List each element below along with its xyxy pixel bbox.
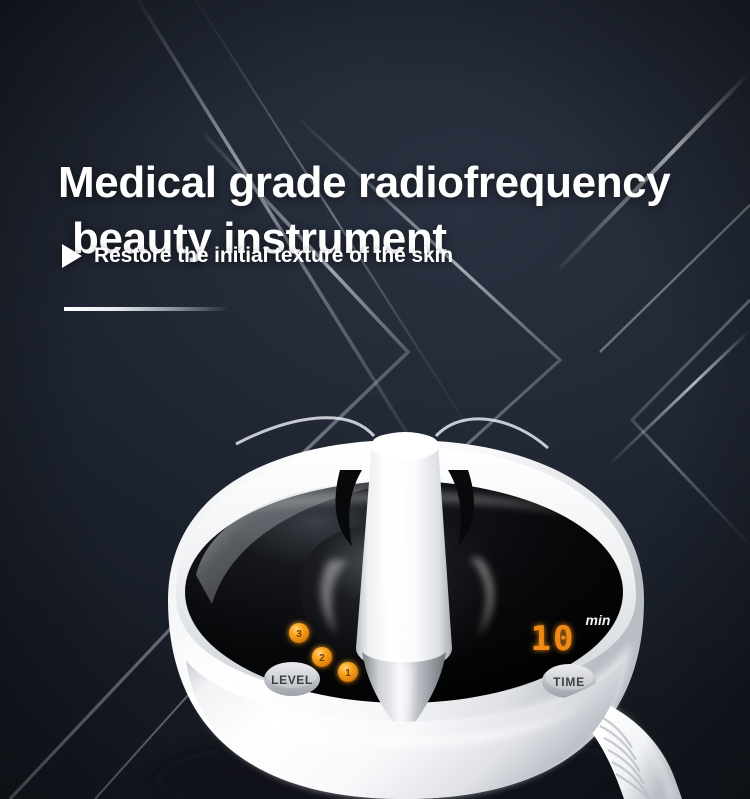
timer-unit-label: min [586,612,611,628]
subtitle-row: Restore the initial texture of the skin [62,244,453,268]
page-title: Medical grade radiofrequency beauty inst… [58,100,738,322]
level-button[interactable]: LEVEL [264,662,320,696]
level-button-label: LEVEL [271,673,313,687]
time-button-label: TIME [553,675,585,689]
headline-line-1: Medical grade radiofrequency [58,158,670,207]
timer-value: 10 [531,619,576,659]
play-triangle-icon [62,244,82,268]
level-led-3-label: 3 [296,629,302,640]
level-led-1-label: 1 [345,668,351,679]
wand-top [371,432,439,460]
gradient-divider [64,307,229,311]
marketing-banner: Medical grade radiofrequency beauty inst… [0,0,750,799]
overhead-cord-left [236,418,374,444]
subtitle-text: Restore the initial texture of the skin [94,244,453,268]
wand-handpiece [356,433,452,670]
level-led-2-label: 2 [319,653,325,664]
